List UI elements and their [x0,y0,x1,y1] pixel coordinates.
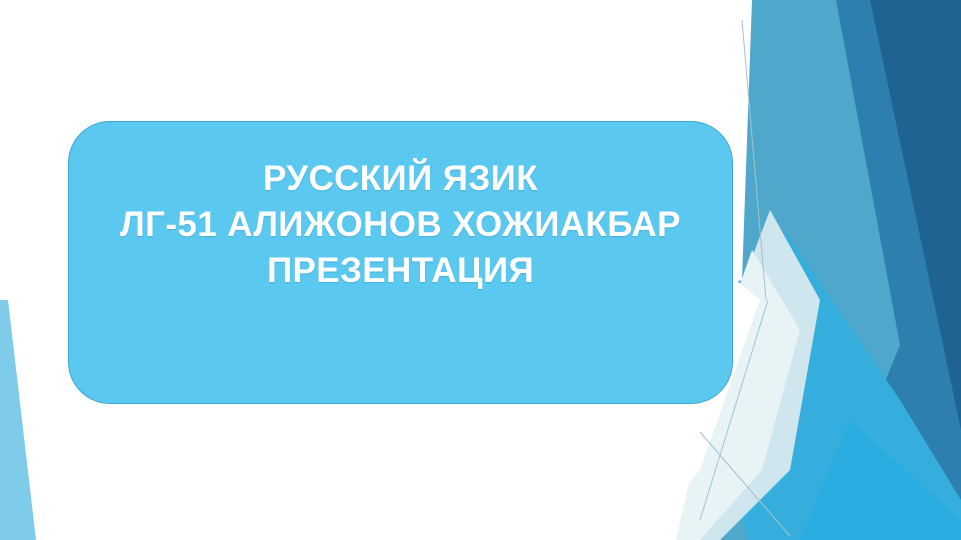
steel-blue-wedge [795,0,961,540]
title-line-1: РУССКИЙ ЯЗИК [263,156,538,202]
hairline-stroke-diagonal [700,432,790,536]
title-text-box: РУССКИЙ ЯЗИК ЛГ-51 АЛИЖОНОВ ХОЖИАКБАР ПР… [68,121,733,404]
sky-blue-band [720,232,961,540]
title-line-3: ПРЕЗЕНТАЦИЯ [267,248,534,294]
presentation-slide: РУССКИЙ ЯЗИК ЛГ-51 АЛИЖОНОВ ХОЖИАКБАР ПР… [0,0,961,540]
title-line-2: ЛГ-51 АЛИЖОНОВ ХОЖИАКБАР [120,202,681,248]
hairline-stroke-upper [742,20,766,300]
left-blue-sliver [0,300,36,540]
dark-navy-wedge [868,0,961,430]
bright-cyan-band [800,420,961,540]
